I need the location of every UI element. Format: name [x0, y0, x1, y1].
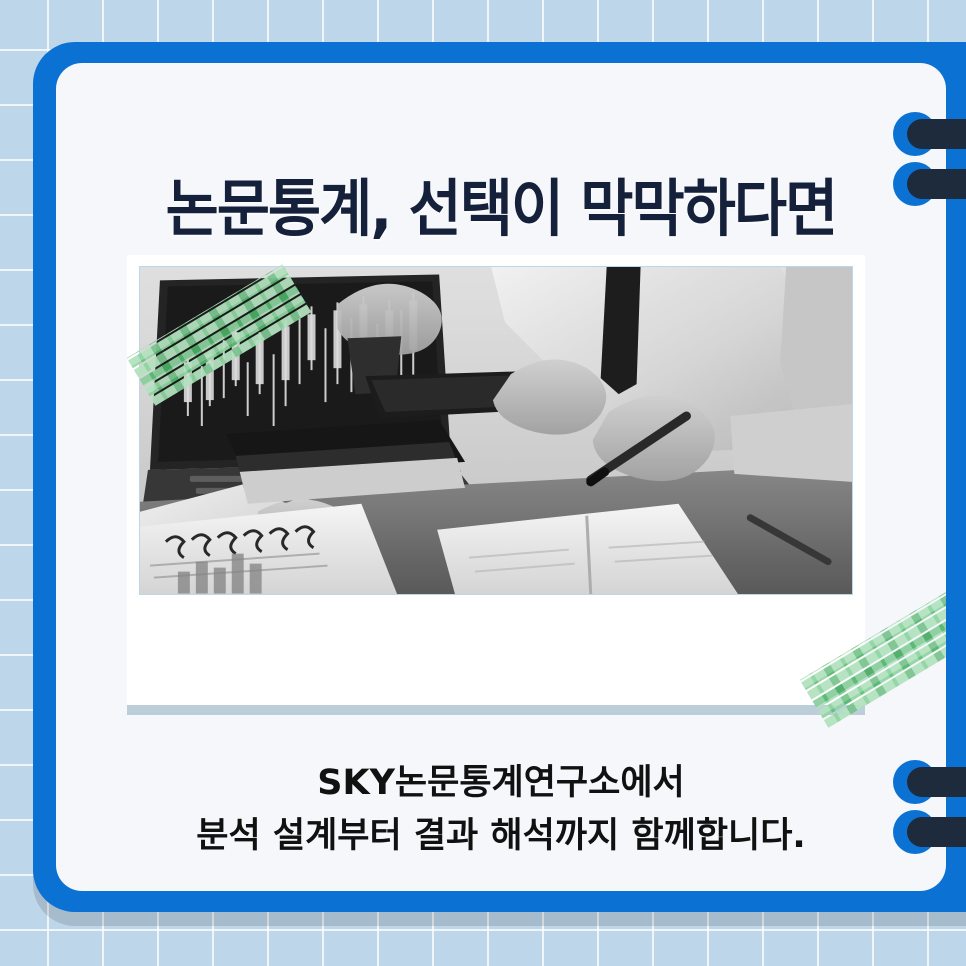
page-title: 논문통계, 선택이 막막하다면 [87, 158, 915, 248]
binder-ring-4 [893, 810, 966, 854]
binder-ring-1 [893, 112, 966, 156]
caption-line-1: SKY논문통계연구소에서 [56, 757, 946, 810]
binder-ring-3 [893, 760, 966, 804]
binder-ring-2 [893, 162, 966, 206]
caption-line-2: 분석 설계부터 결과 해석까지 함께합니다. [56, 810, 946, 863]
binder-ring-bar [907, 767, 966, 797]
caption-block: SKY논문통계연구소에서 분석 설계부터 결과 해석까지 함께합니다. [56, 757, 946, 862]
binder-ring-bar [907, 169, 966, 199]
poster-canvas: 논문통계, 선택이 막막하다면 [0, 0, 966, 966]
binder-ring-bar [907, 119, 966, 149]
binder-ring-bar [907, 817, 966, 847]
poster-card: 논문통계, 선택이 막막하다면 [56, 63, 946, 891]
